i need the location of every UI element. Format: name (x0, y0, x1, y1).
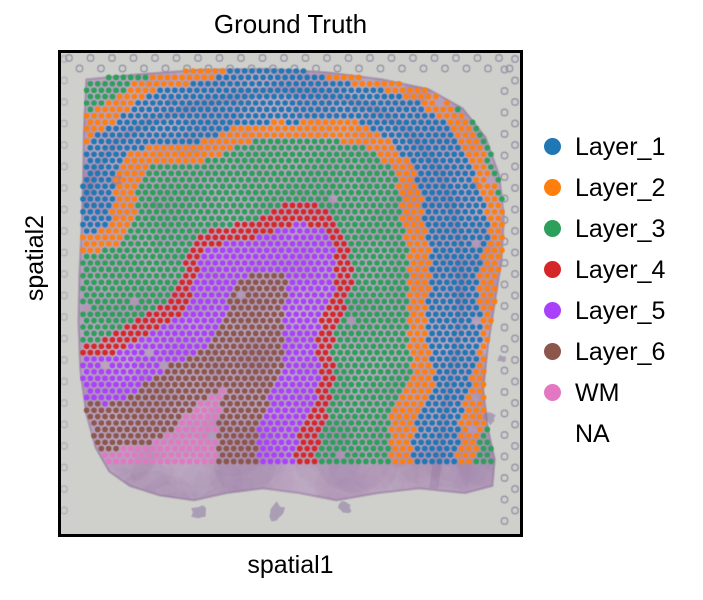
legend-item-label: NA (575, 420, 610, 448)
legend-item[interactable]: Layer_1 (536, 126, 696, 167)
plot-frame (58, 50, 523, 537)
legend-item-label: WM (575, 379, 619, 407)
legend: Layer_1Layer_2Layer_3Layer_4Layer_5Layer… (536, 126, 696, 454)
legend-item-label: Layer_2 (575, 174, 665, 202)
legend-color-dot-icon (544, 302, 561, 319)
legend-color-dot-icon (544, 343, 561, 360)
legend-color-dot-icon (544, 261, 561, 278)
legend-color-dot-empty-icon (544, 425, 561, 442)
legend-item-label: Layer_6 (575, 338, 665, 366)
legend-item-label: Layer_3 (575, 215, 665, 243)
legend-item[interactable]: Layer_2 (536, 167, 696, 208)
legend-item-label: Layer_4 (575, 256, 665, 284)
legend-color-dot-icon (544, 138, 561, 155)
y-axis-label: spatial2 (20, 178, 50, 338)
legend-color-dot-icon (544, 179, 561, 196)
legend-item[interactable]: NA (536, 413, 696, 454)
legend-item[interactable]: WM (536, 372, 696, 413)
spot-overlay (61, 53, 520, 534)
legend-item-label: Layer_5 (575, 297, 665, 325)
legend-color-dot-icon (544, 220, 561, 237)
spatial-plot-figure: Ground Truth spatial2 spatial1 Layer_1La… (0, 0, 703, 600)
page-title: Ground Truth (58, 8, 523, 40)
x-axis-label: spatial1 (58, 550, 523, 580)
legend-item[interactable]: Layer_3 (536, 208, 696, 249)
plot-area (61, 53, 520, 534)
legend-item[interactable]: Layer_4 (536, 249, 696, 290)
legend-item-label: Layer_1 (575, 133, 665, 161)
legend-item[interactable]: Layer_6 (536, 331, 696, 372)
legend-item[interactable]: Layer_5 (536, 290, 696, 331)
legend-color-dot-icon (544, 384, 561, 401)
